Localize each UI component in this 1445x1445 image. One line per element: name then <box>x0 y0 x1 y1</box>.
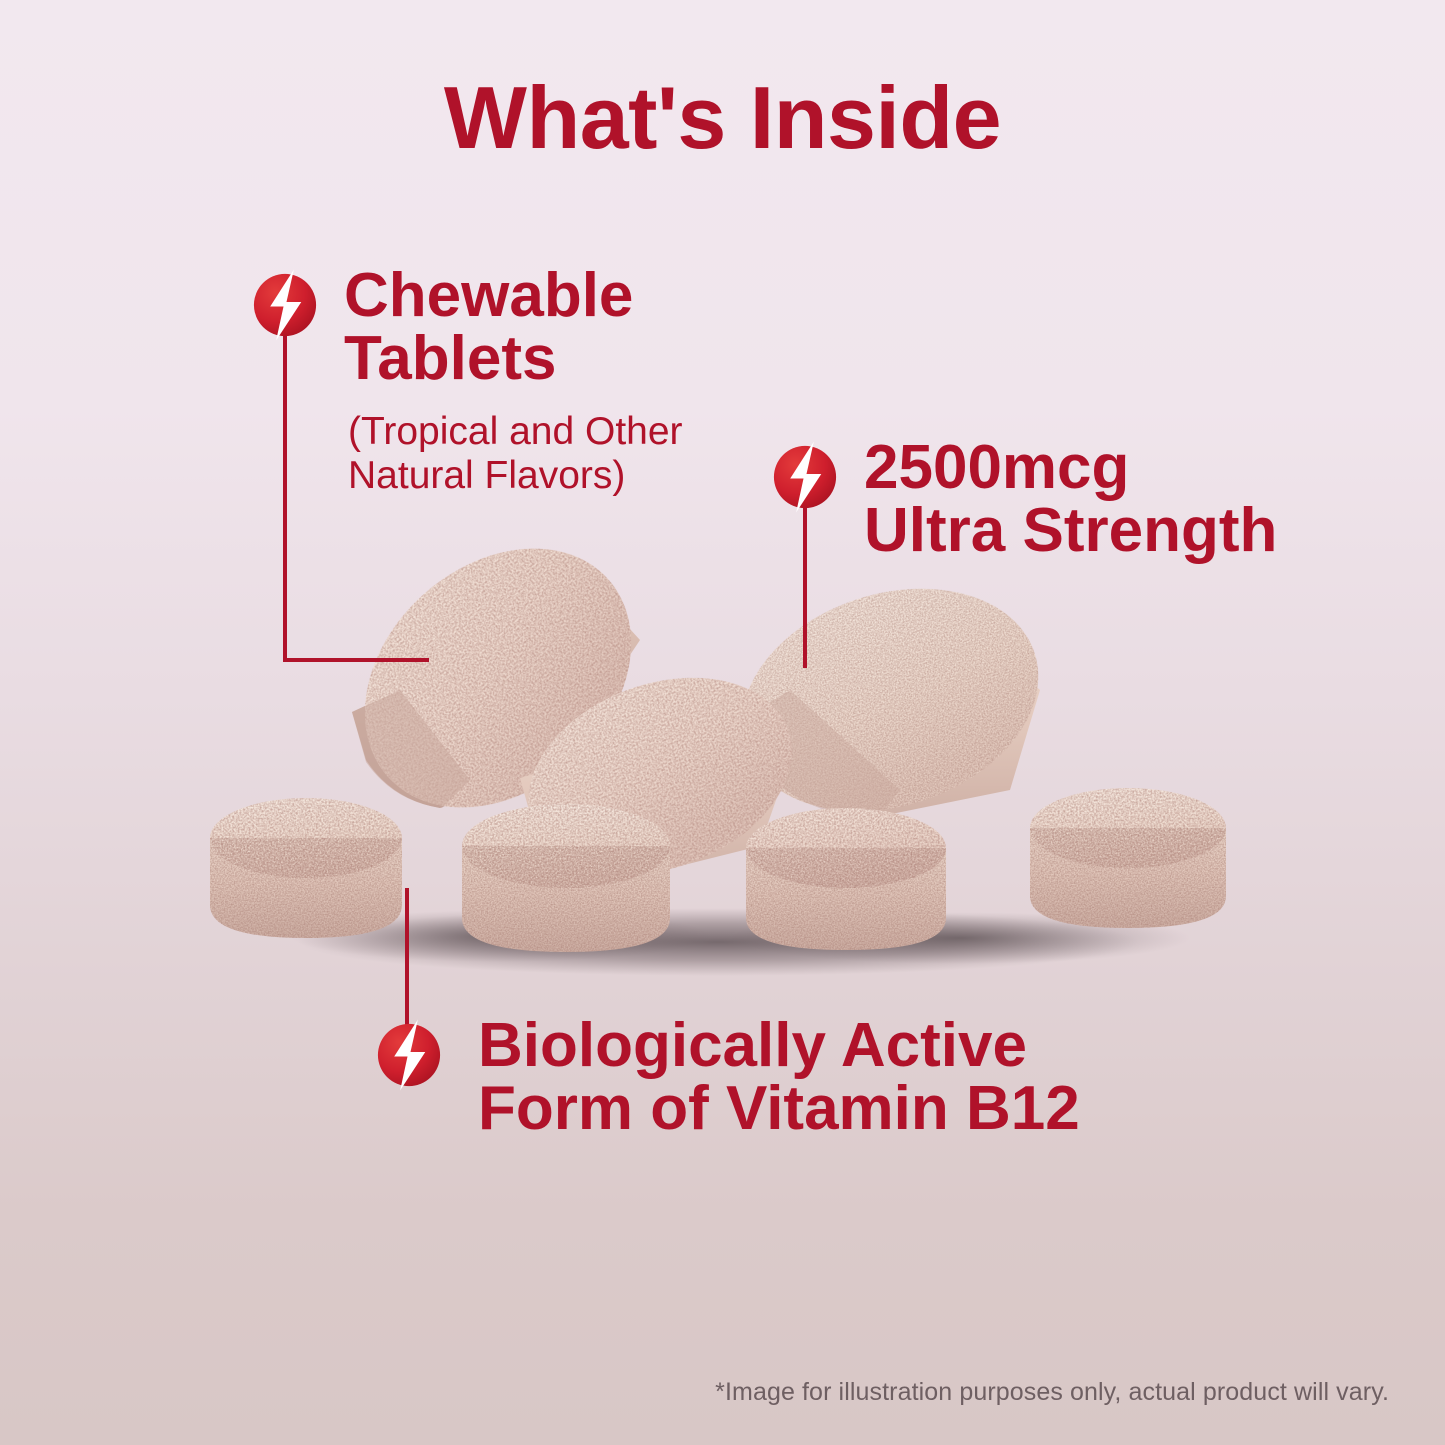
leader-line-b12-vertical <box>405 888 409 1036</box>
lightning-bolt-icon <box>372 1018 446 1092</box>
disclaimer-footnote: *Image for illustration purposes only, a… <box>715 1378 1389 1407</box>
lightning-bolt-icon <box>768 440 842 514</box>
callout-chewable-tablets: Chewable Tablets (Tropical and Other Nat… <box>248 268 683 498</box>
callout-headline: Chewable Tablets <box>344 264 683 390</box>
callout-headline: 2500mcg Ultra Strength <box>864 436 1277 562</box>
callout-subline: (Tropical and Other Natural Flavors) <box>348 410 683 497</box>
page-title: What's Inside <box>0 72 1445 164</box>
product-tablet-pile-image <box>0 0 1445 1445</box>
lightning-bolt-icon <box>248 268 322 342</box>
leader-line-chewable-horizontal <box>283 658 429 662</box>
callout-ultra-strength: 2500mcg Ultra Strength <box>768 440 1277 562</box>
callout-headline: Biologically Active Form of Vitamin B12 <box>478 1014 1080 1140</box>
infographic-canvas: What's Inside <box>0 0 1445 1445</box>
callout-active-b12: Biologically Active Form of Vitamin B12 <box>372 1018 1080 1140</box>
